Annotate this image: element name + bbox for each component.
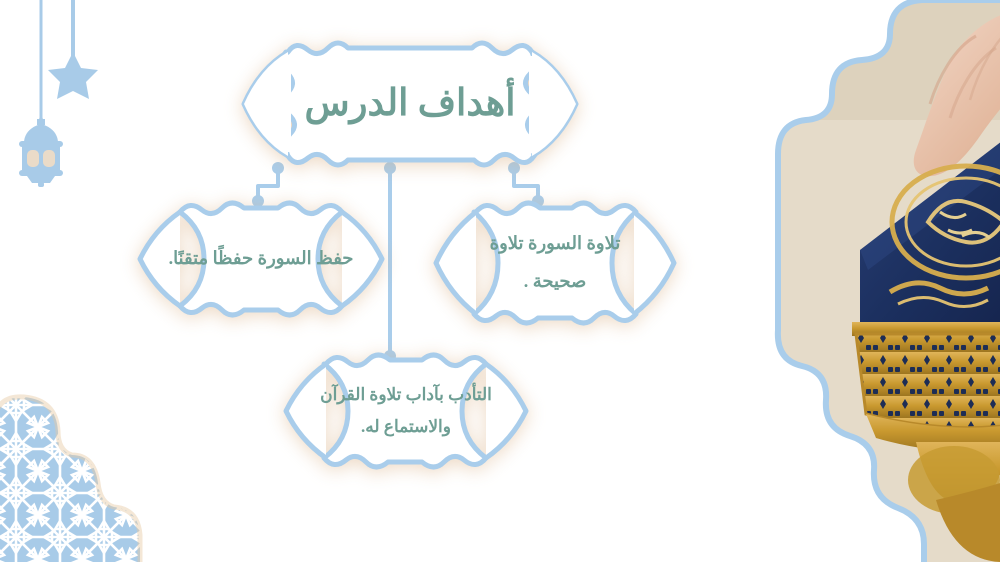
hanging-ornaments-group — [0, 0, 140, 210]
title-node: أهداف الدرس — [228, 38, 592, 170]
objective-node-memorize: حفظ السورة حفظًا متقنًا. — [126, 200, 396, 318]
star-icon — [48, 52, 98, 99]
lantern-icon — [19, 116, 63, 187]
connector-left — [258, 168, 278, 201]
objective-left-text: حفظ السورة حفظًا متقنًا. — [131, 240, 391, 278]
title-text: أهداف الدرس — [253, 72, 566, 137]
objective-right-text: تلاوة السورة تلاوة صحيحة . — [424, 225, 686, 301]
hanging-ornaments-svg — [0, 0, 140, 210]
corner-geometric-pattern — [0, 383, 184, 562]
slide-canvas: أهداف الدرس حفظ السورة حفظًا متقنًا. تلا… — [0, 0, 1000, 562]
connector-right — [514, 168, 538, 201]
corner-pattern-svg — [0, 383, 184, 562]
quran-photo-panel — [740, 0, 1000, 562]
objective-node-recite: تلاوة السورة تلاوة صحيحة . — [424, 200, 686, 326]
objective-node-etiquette: التأدب بآداب تلاوة القرآن والاستماع له. — [272, 352, 540, 470]
objective-bottom-text: التأدب بآداب تلاوة القرآن والاستماع له. — [272, 379, 540, 444]
quran-photo-svg — [740, 0, 1000, 562]
